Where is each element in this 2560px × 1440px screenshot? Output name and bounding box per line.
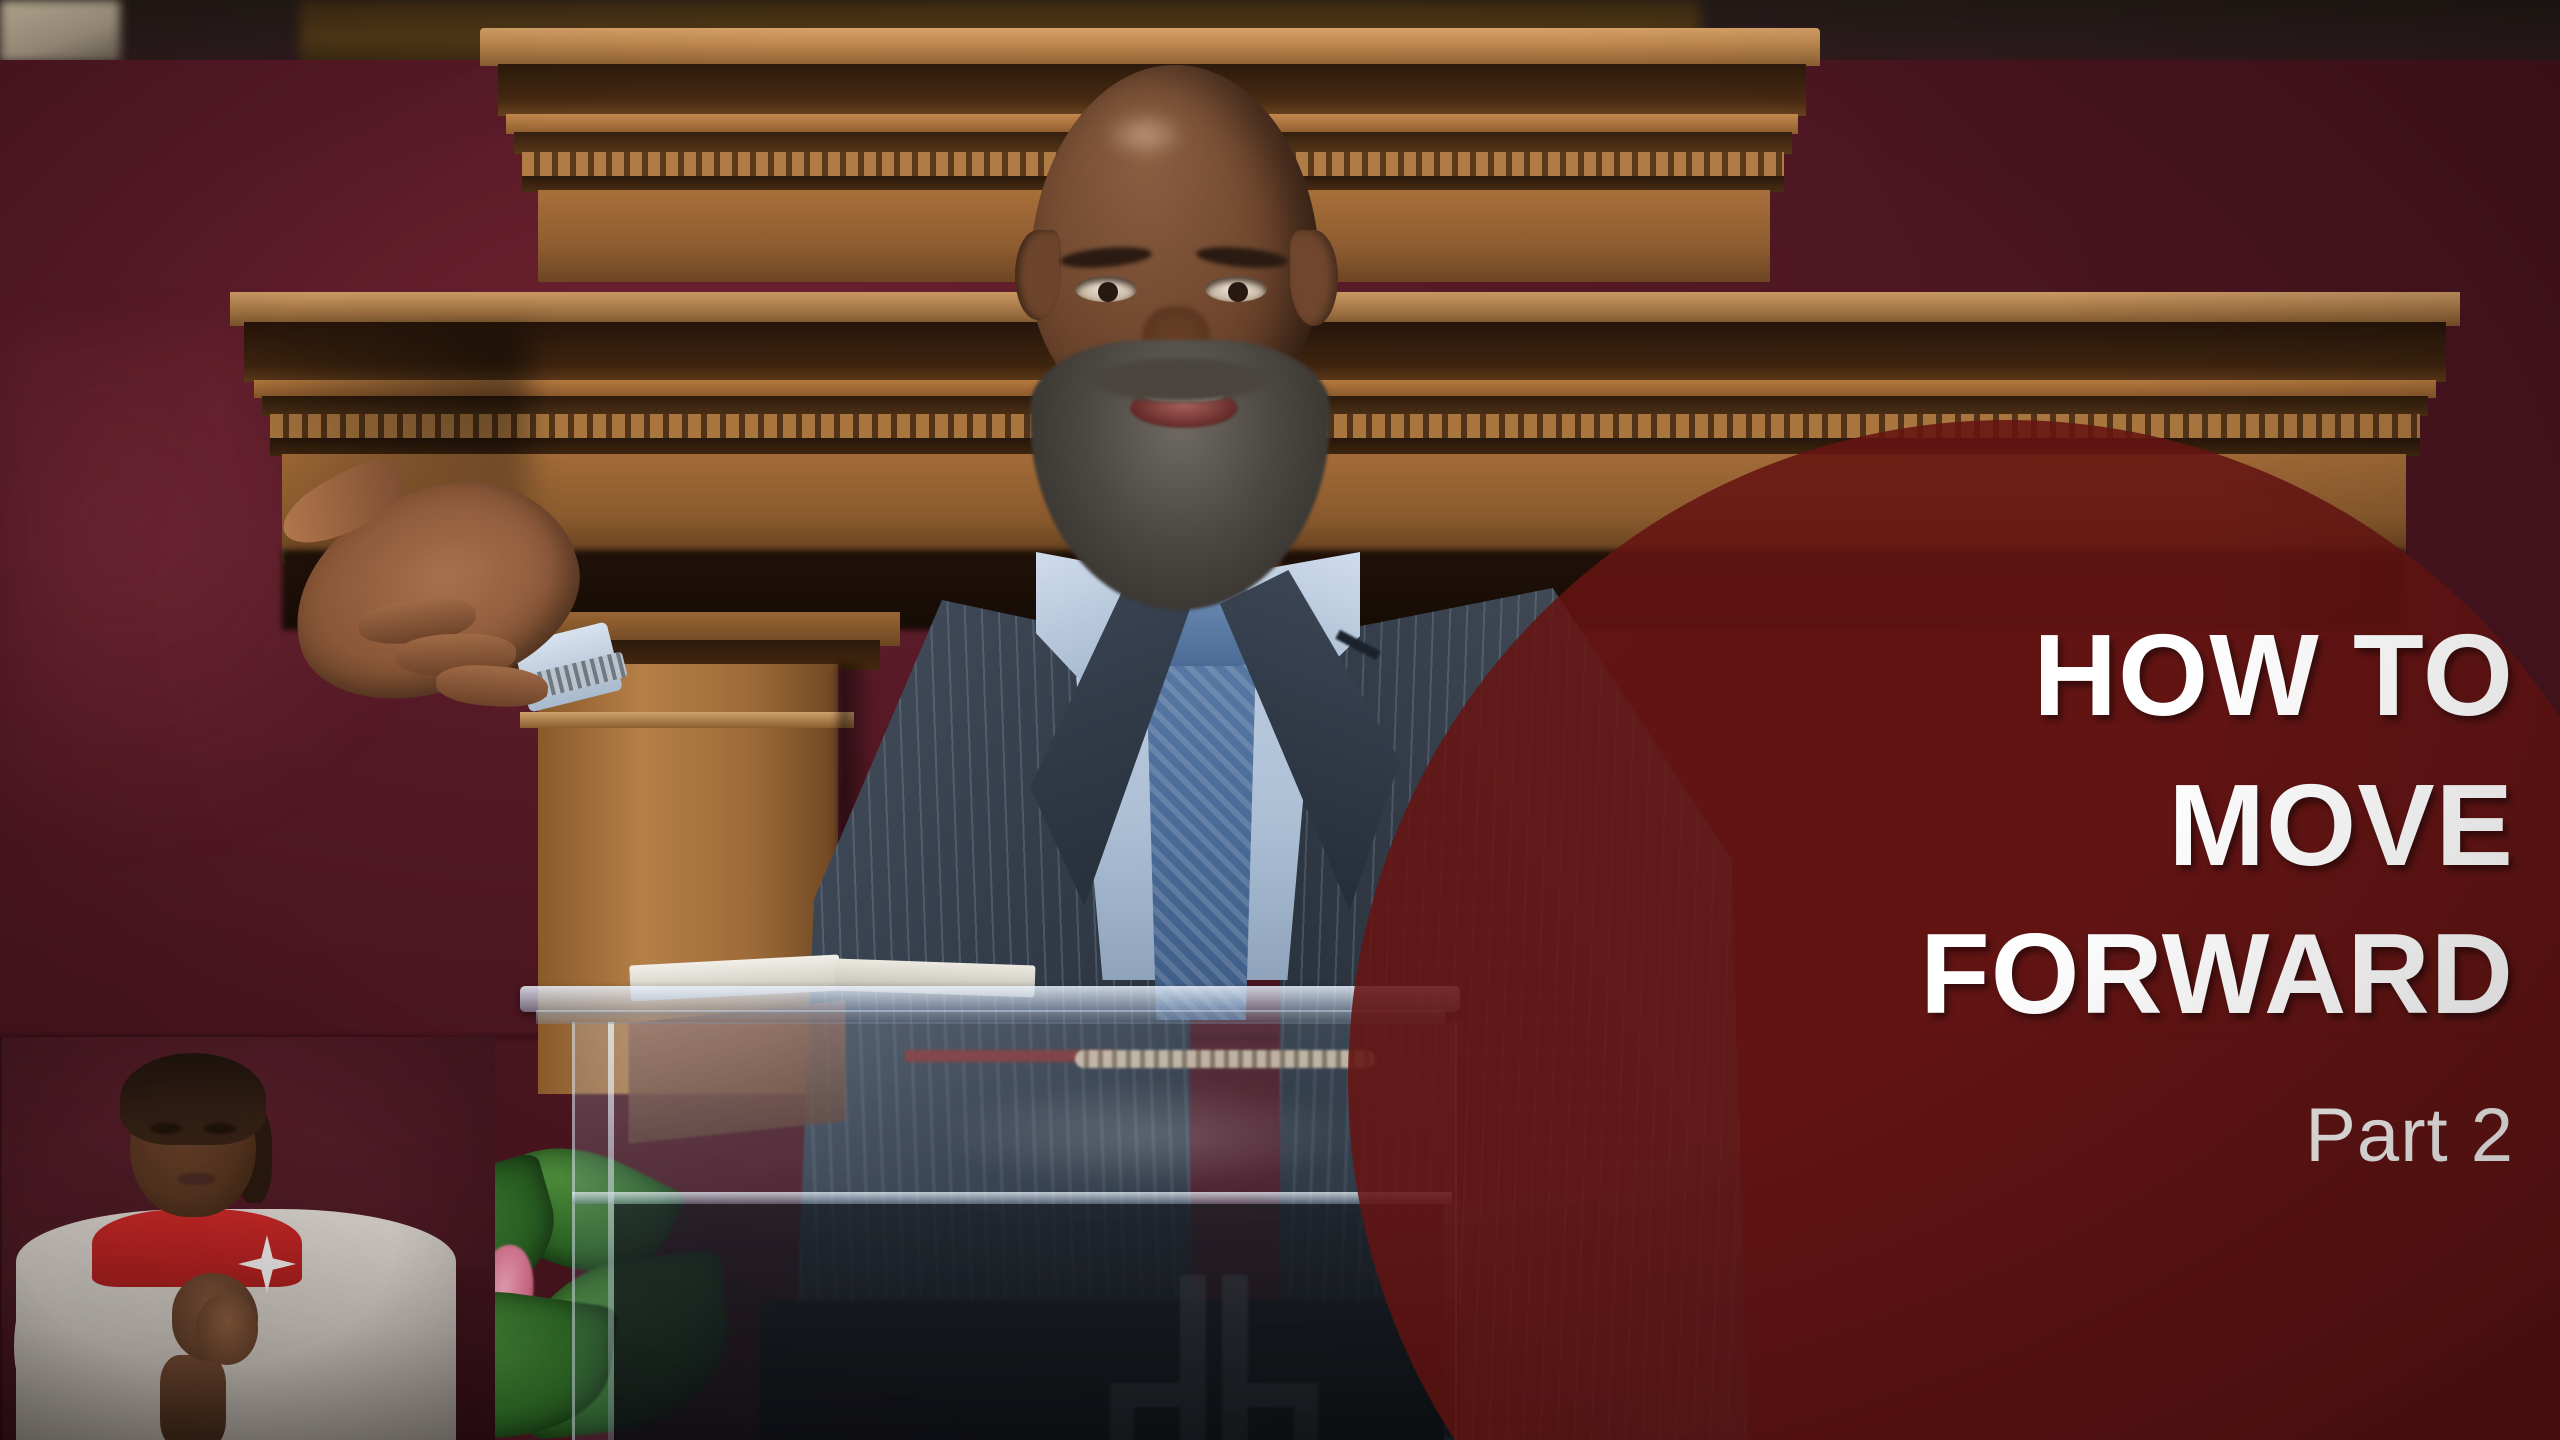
- acrylic-pulpit: [520, 960, 1460, 1440]
- ear-right: [1290, 230, 1338, 326]
- pulpit-shelf: [572, 1192, 1452, 1204]
- pupil-left: [1098, 282, 1118, 302]
- head-highlight: [1102, 110, 1188, 160]
- sermon-title-block: HOW TO MOVE FORWARD Part 2: [1560, 600, 2560, 1440]
- pulpit-vertical-edge: [608, 1022, 614, 1440]
- pulpit-inner-shadow: [614, 1204, 1444, 1440]
- pupil-right: [1228, 282, 1248, 302]
- inset-vignette: [0, 1037, 495, 1440]
- video-frame: HOW TO MOVE FORWARD Part 2: [0, 0, 2560, 1440]
- ear-left: [1015, 230, 1061, 320]
- mustache: [1092, 358, 1268, 402]
- pulpit-top-rail-under: [536, 1010, 1446, 1024]
- pulpit-top-rail: [520, 986, 1460, 1012]
- title-line-3: FORWARD: [1560, 900, 2514, 1050]
- title-line-1: HOW TO: [1560, 600, 2514, 750]
- title-line-2: MOVE: [1560, 750, 2514, 900]
- upper-wall-light-patch: [0, 0, 120, 62]
- sermon-subtitle: Part 2: [1560, 1094, 2514, 1178]
- sign-language-interpreter-inset[interactable]: [0, 1037, 495, 1440]
- pulpit-reflection: [940, 1080, 1360, 1190]
